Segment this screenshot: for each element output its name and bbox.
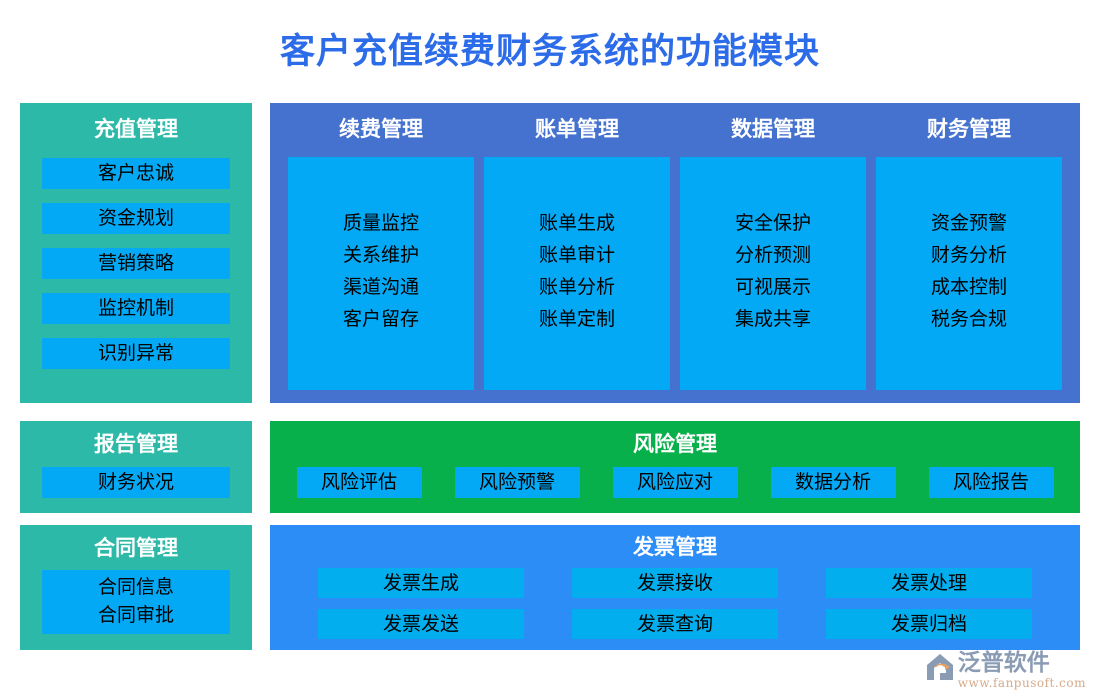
panel-title-data: 数据管理 — [680, 116, 866, 142]
watermark-url: www.fanpusoft.com — [958, 677, 1086, 689]
panel-invoice-management: 发票管理 发票生成 发票接收 发票处理 发票发送 发票查询 发票归档 — [270, 525, 1080, 650]
chip-invoice-5[interactable]: 发票归档 — [826, 609, 1032, 639]
panel-risk-management: 风险管理 风险评估 风险预警 风险应对 数据分析 风险报告 — [270, 421, 1080, 513]
item-renewal-1[interactable]: 关系维护 — [288, 239, 474, 271]
column-finance-management: 财务管理 资金预警 财务分析 成本控制 税务合规 — [876, 116, 1062, 390]
chip-recharge-2[interactable]: 营销策略 — [42, 248, 230, 279]
item-renewal-3[interactable]: 客户留存 — [288, 303, 474, 335]
chip-risk-3[interactable]: 数据分析 — [771, 467, 896, 498]
item-renewal-0[interactable]: 质量监控 — [288, 207, 474, 239]
column-data-management: 数据管理 安全保护 分析预测 可视展示 集成共享 — [680, 116, 866, 390]
panel-title-risk: 风险管理 — [270, 431, 1080, 457]
panel-title-finance: 财务管理 — [876, 116, 1062, 142]
chip-contract-group[interactable]: 合同信息 合同审批 — [42, 570, 230, 634]
item-finance-1[interactable]: 财务分析 — [876, 239, 1062, 271]
panel-title-invoice: 发票管理 — [270, 534, 1080, 560]
chip-invoice-3[interactable]: 发票发送 — [318, 609, 524, 639]
chip-report-0[interactable]: 财务状况 — [42, 467, 230, 498]
chip-invoice-2[interactable]: 发票处理 — [826, 568, 1032, 598]
item-renewal-2[interactable]: 渠道沟通 — [288, 271, 474, 303]
card-renewal-items: 质量监控 关系维护 渠道沟通 客户留存 — [288, 157, 474, 390]
chip-risk-2[interactable]: 风险应对 — [613, 467, 738, 498]
chip-contract-1[interactable]: 合同审批 — [42, 601, 230, 629]
chip-recharge-4[interactable]: 识别异常 — [42, 338, 230, 369]
page-title: 客户充值续费财务系统的功能模块 — [0, 30, 1100, 74]
item-finance-3[interactable]: 税务合规 — [876, 303, 1062, 335]
panel-title-renewal: 续费管理 — [288, 116, 474, 142]
column-renewal-management: 续费管理 质量监控 关系维护 渠道沟通 客户留存 — [288, 116, 474, 390]
card-data-items: 安全保护 分析预测 可视展示 集成共享 — [680, 157, 866, 390]
chip-risk-0[interactable]: 风险评估 — [297, 467, 422, 498]
panel-core-modules: 续费管理 质量监控 关系维护 渠道沟通 客户留存 账单管理 账单生成 账单审计 … — [270, 103, 1080, 403]
chip-invoice-4[interactable]: 发票查询 — [572, 609, 778, 639]
watermark-brand: 泛普软件 — [958, 652, 1086, 675]
panel-recharge-management: 充值管理 客户忠诚 资金规划 营销策略 监控机制 识别异常 — [20, 103, 252, 403]
diagram-canvas: 客户充值续费财务系统的功能模块 充值管理 客户忠诚 资金规划 营销策略 监控机制… — [0, 0, 1100, 700]
watermark-text: 泛普软件 www.fanpusoft.com — [958, 652, 1086, 689]
chip-risk-1[interactable]: 风险预警 — [455, 467, 580, 498]
panel-title-report: 报告管理 — [20, 431, 252, 457]
item-data-3[interactable]: 集成共享 — [680, 303, 866, 335]
item-data-1[interactable]: 分析预测 — [680, 239, 866, 271]
card-bill-items: 账单生成 账单审计 账单分析 账单定制 — [484, 157, 670, 390]
card-finance-items: 资金预警 财务分析 成本控制 税务合规 — [876, 157, 1062, 390]
watermark-logo: 泛普软件 www.fanpusoft.com — [925, 652, 1086, 692]
panel-title-contract: 合同管理 — [20, 535, 252, 561]
item-finance-0[interactable]: 资金预警 — [876, 207, 1062, 239]
item-data-0[interactable]: 安全保护 — [680, 207, 866, 239]
item-bill-1[interactable]: 账单审计 — [484, 239, 670, 271]
item-finance-2[interactable]: 成本控制 — [876, 271, 1062, 303]
panel-title-recharge: 充值管理 — [20, 116, 252, 142]
chip-recharge-1[interactable]: 资金规划 — [42, 203, 230, 234]
chip-invoice-0[interactable]: 发票生成 — [318, 568, 524, 598]
chip-invoice-1[interactable]: 发票接收 — [572, 568, 778, 598]
panel-contract-management: 合同管理 合同信息 合同审批 — [20, 525, 252, 650]
chip-risk-4[interactable]: 风险报告 — [929, 467, 1054, 498]
item-bill-3[interactable]: 账单定制 — [484, 303, 670, 335]
column-bill-management: 账单管理 账单生成 账单审计 账单分析 账单定制 — [484, 116, 670, 390]
chip-recharge-0[interactable]: 客户忠诚 — [42, 158, 230, 189]
item-bill-0[interactable]: 账单生成 — [484, 207, 670, 239]
item-data-2[interactable]: 可视展示 — [680, 271, 866, 303]
fanpu-swoosh-icon — [925, 653, 955, 683]
item-bill-2[interactable]: 账单分析 — [484, 271, 670, 303]
panel-title-bill: 账单管理 — [484, 116, 670, 142]
chip-recharge-3[interactable]: 监控机制 — [42, 293, 230, 324]
chip-contract-0[interactable]: 合同信息 — [42, 573, 230, 601]
panel-report-management: 报告管理 财务状况 — [20, 421, 252, 513]
